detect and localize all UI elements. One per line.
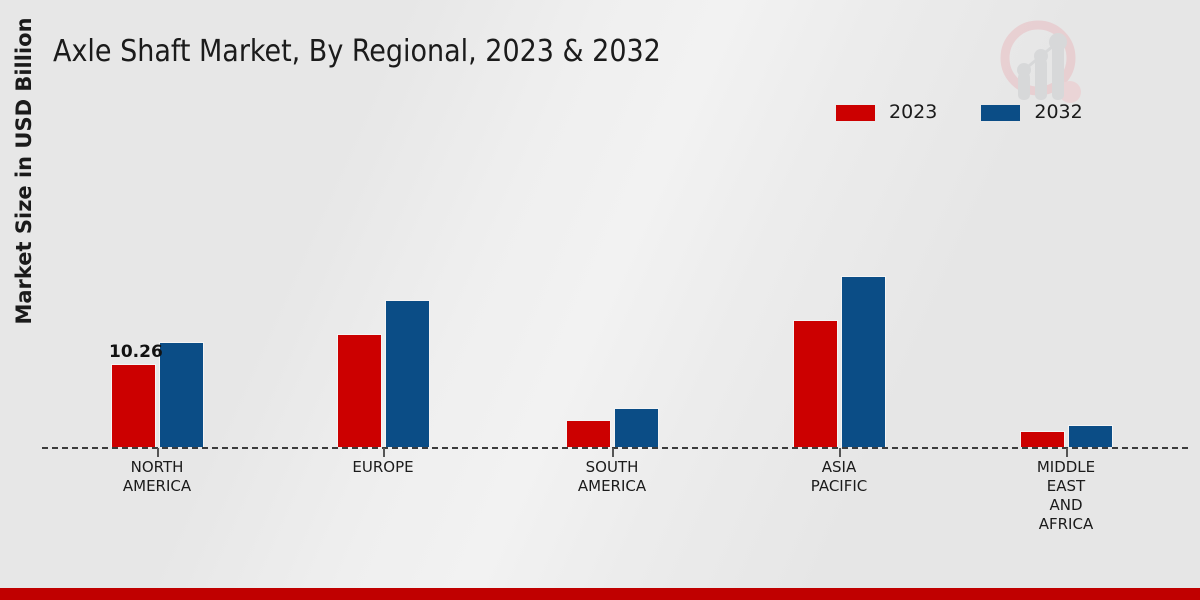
x-axis-tick [157,448,159,457]
plot-area: 10.26NORTHAMERICAEUROPESOUTHAMERICAASIAP… [0,0,1200,600]
x-axis-label-middle-east-and-africa: MIDDLEEASTANDAFRICA [966,458,1166,534]
bar-2023-south-america[interactable] [566,420,611,447]
x-axis-label-line: SOUTH [512,458,712,477]
footer-accent-strip [0,588,1200,600]
x-axis-label-line: AMERICA [57,477,257,496]
x-axis-tick [1066,448,1068,457]
bar-2032-europe[interactable] [385,300,430,447]
x-axis-tick [839,448,841,457]
x-axis-tick [383,448,385,457]
x-axis-label-line: EUROPE [283,458,483,477]
bar-2023-middle-east-and-africa[interactable] [1020,431,1065,447]
x-axis-label-line: AND [966,496,1166,515]
bar-2023-north-america[interactable] [111,364,156,447]
x-axis-label-line: MIDDLE [966,458,1166,477]
x-axis-baseline [42,447,1188,449]
x-axis-label-line: EAST [966,477,1166,496]
x-axis-label-europe: EUROPE [283,458,483,477]
x-axis-label-line: ASIA [739,458,939,477]
bar-value-label: 10.26 [109,342,163,362]
chart-canvas: Axle Shaft Market, By Regional, 2023 & 2… [0,0,1200,600]
bar-2032-north-america[interactable] [159,342,204,447]
x-axis-tick [612,448,614,457]
x-axis-label-north-america: NORTHAMERICA [57,458,257,496]
x-axis-label-line: AMERICA [512,477,712,496]
x-axis-label-line: NORTH [57,458,257,477]
bar-2032-asia-pacific[interactable] [841,276,886,447]
x-axis-label-south-america: SOUTHAMERICA [512,458,712,496]
bar-2023-europe[interactable] [337,334,382,447]
bar-2032-middle-east-and-africa[interactable] [1068,425,1113,447]
x-axis-label-line: PACIFIC [739,477,939,496]
x-axis-label-asia-pacific: ASIAPACIFIC [739,458,939,496]
bar-2023-asia-pacific[interactable] [793,320,838,447]
x-axis-label-line: AFRICA [966,515,1166,534]
bar-2032-south-america[interactable] [614,408,659,447]
